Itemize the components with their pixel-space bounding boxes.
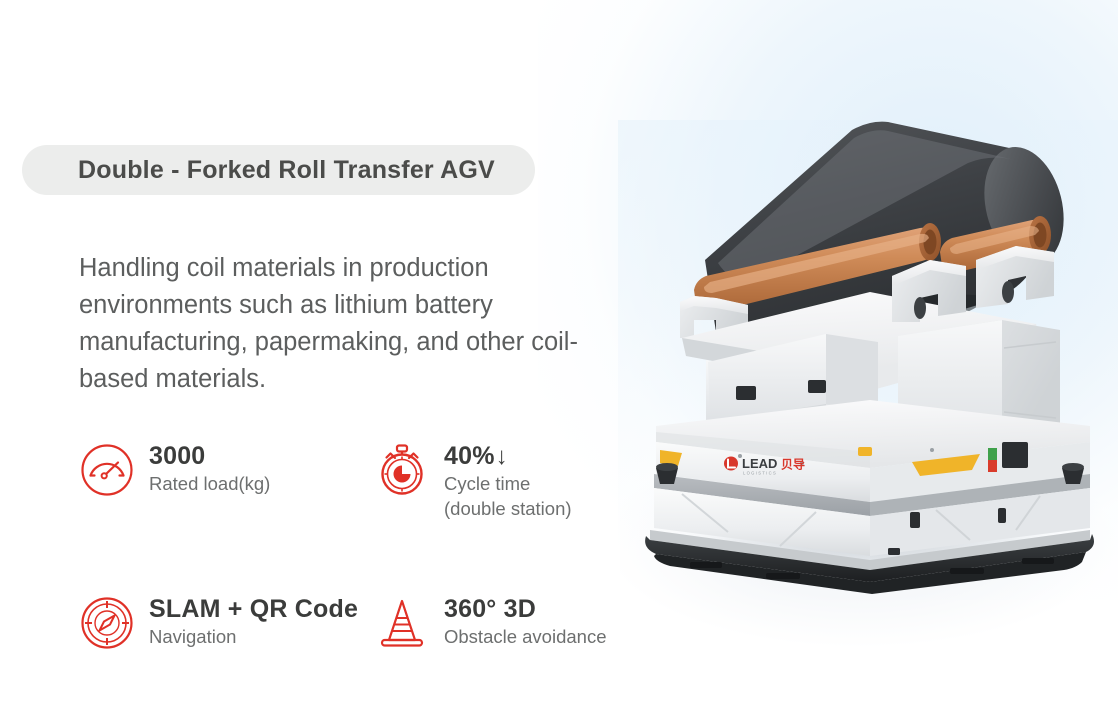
spec-item-obstacle-avoidance: 360° 3D Obstacle avoidance [374,593,659,651]
spec-value: 360° 3D [444,595,607,624]
spec-label-line-1: Navigation [149,624,358,649]
spec-item-cycle-time: 40% ↓ Cycle time (double station) [374,440,659,521]
spec-text: 3000 Rated load(kg) [149,440,270,496]
spec-value: 3000 [149,442,270,471]
spec-text: 40% ↓ Cycle time (double station) [444,440,572,521]
spec-value-number: 40% [444,442,495,471]
page-title: Double - Forked Roll Transfer AGV [78,156,495,185]
traffic-cone-icon [374,595,430,651]
corner-lidar-right [1062,463,1084,484]
spec-row-2: SLAM + QR Code Navigation [79,593,659,651]
gauge-icon [79,442,135,498]
stopwatch-icon [374,442,430,498]
down-arrow-icon: ↓ [496,442,508,471]
product-image-agv: LEAD 贝导 LOGISTICS [620,70,1118,600]
spec-label-line-1: Cycle time [444,471,572,496]
spec-value-number: 360° 3D [444,595,536,624]
spec-text: 360° 3D Obstacle avoidance [444,593,607,649]
svg-text:贝导: 贝导 [781,457,805,472]
compass-icon [79,595,135,651]
svg-text:LEAD: LEAD [742,456,777,471]
svg-text:LOGISTICS: LOGISTICS [743,471,777,476]
page-title-pill: Double - Forked Roll Transfer AGV [22,145,535,195]
spec-label-line-1: Rated load(kg) [149,471,270,496]
spec-value-number: SLAM + QR Code [149,595,358,624]
slide-root: Double - Forked Roll Transfer AGV Handli… [0,0,1118,719]
corner-lidar-left [656,463,678,484]
spec-label-line-2: (double station) [444,496,572,521]
spec-list: 3000 Rated load(kg) [79,440,659,651]
spec-item-rated-load: 3000 Rated load(kg) [79,440,374,521]
product-description: Handling coil materials in production en… [79,250,639,398]
spec-item-navigation: SLAM + QR Code Navigation [79,593,374,651]
spec-value: 40% ↓ [444,442,572,471]
spec-value-number: 3000 [149,442,205,471]
spec-text: SLAM + QR Code Navigation [149,593,358,649]
spec-label-line-1: Obstacle avoidance [444,624,607,649]
spec-row-1: 3000 Rated load(kg) [79,440,659,521]
spec-value: SLAM + QR Code [149,595,358,624]
